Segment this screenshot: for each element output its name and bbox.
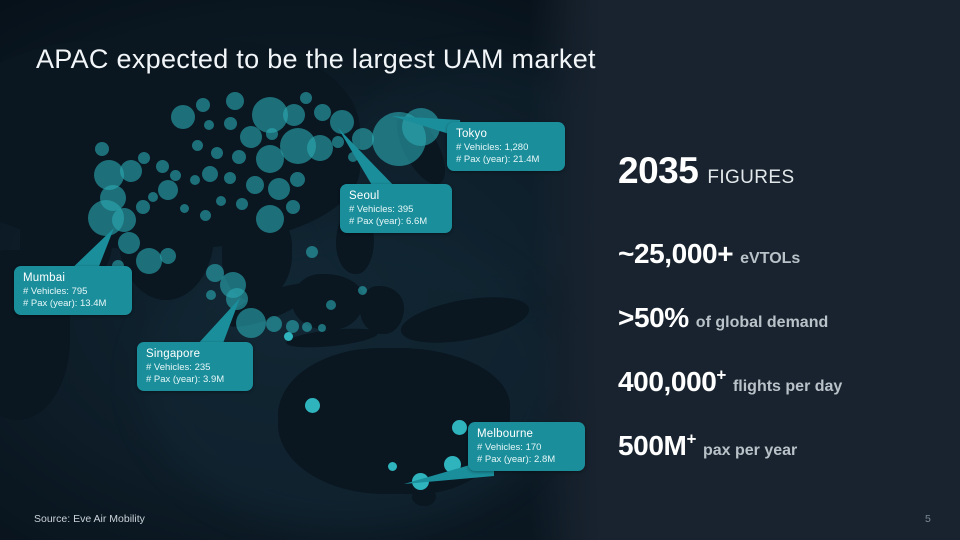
callout-city: Tokyo [456,127,556,141]
figure-label: pax per year [703,442,797,459]
callout-tail-seoul [336,128,398,192]
demand-bubble [211,147,223,159]
figure-superscript: + [716,366,726,385]
demand-bubble [224,172,236,184]
demand-bubble [246,176,264,194]
demand-bubble [314,104,331,121]
demand-bubble [286,200,300,214]
source-note: Source: Eve Air Mobility [34,513,145,525]
callout-vehicles: # Vehicles: 1,280 [456,142,556,154]
demand-bubble [326,300,336,310]
callout-vehicles: # Vehicles: 795 [23,286,123,298]
demand-bubble [170,170,181,181]
figure-value: 500M+ [618,430,696,461]
demand-bubble [236,198,248,210]
callout-city: Mumbai [23,271,123,285]
demand-bubble [158,180,178,200]
figures-year-label: FIGURES [707,167,794,188]
demand-bubble [118,232,140,254]
demand-bubble [156,160,169,173]
demand-bubble [180,204,189,213]
figure-row-pax: 500M+pax per year [618,430,948,462]
figures-panel: 2035FIGURES ~25,000+eVTOLs >50%of global… [618,150,948,494]
callout-singapore[interactable]: Singapore # Vehicles: 235 # Pax (year): … [137,342,253,391]
callout-melbourne[interactable]: Melbourne # Vehicles: 170 # Pax (year): … [468,422,585,471]
landmass-tasmania [412,488,436,506]
figure-label: flights per day [733,378,842,395]
demand-bubble [305,398,320,413]
demand-bubble [224,117,237,130]
page-number: 5 [925,513,931,525]
demand-bubble [388,462,397,471]
demand-bubble [136,248,162,274]
figures-year: 2035 [618,150,698,191]
figure-number: 500M [618,430,686,461]
demand-bubble [120,160,142,182]
callout-pax: # Pax (year): 13.4M [23,298,123,310]
demand-bubble [300,92,312,104]
callout-vehicles: # Vehicles: 170 [477,442,576,454]
demand-bubble [148,192,158,202]
callout-vehicles: # Vehicles: 235 [146,362,244,374]
callout-pax: # Pax (year): 6.6M [349,216,443,228]
landmass-sulawesi [360,286,404,334]
figure-value: >50% [618,302,689,333]
callout-pax: # Pax (year): 2.8M [477,454,576,466]
demand-bubble [171,105,195,129]
page-title: APAC expected to be the largest UAM mark… [36,44,596,75]
figure-superscript: + [686,430,696,449]
callout-pax: # Pax (year): 21.4M [456,154,556,166]
figure-row-demand: >50%of global demand [618,302,948,334]
map-panel: Tokyo # Vehicles: 1,280 # Pax (year): 21… [0,0,600,540]
demand-bubble [226,92,244,110]
figure-label: of global demand [696,314,828,331]
demand-bubble [138,152,150,164]
demand-bubble [283,104,305,126]
demand-bubble [200,210,211,221]
demand-bubble [160,248,176,264]
callout-pax: # Pax (year): 3.9M [146,374,244,386]
demand-bubble [306,246,318,258]
demand-bubble [318,324,326,332]
demand-bubble [266,316,282,332]
callout-city: Seoul [349,189,443,203]
figures-heading: 2035FIGURES [618,150,948,192]
demand-bubble [190,175,200,185]
figure-row-flights: 400,000+flights per day [618,366,948,398]
demand-bubble [290,172,305,187]
demand-bubble [196,98,210,112]
demand-bubble [232,150,246,164]
callout-mumbai[interactable]: Mumbai # Vehicles: 795 # Pax (year): 13.… [14,266,132,315]
demand-bubble [358,286,367,295]
callout-seoul[interactable]: Seoul # Vehicles: 395 # Pax (year): 6.6M [340,184,452,233]
figure-label: eVTOLs [740,250,800,267]
figure-value: 400,000+ [618,366,726,397]
demand-bubble [216,196,226,206]
demand-bubble [136,200,150,214]
callout-city: Singapore [146,347,244,361]
slide-root: Tokyo # Vehicles: 1,280 # Pax (year): 21… [0,0,960,540]
demand-bubble [192,140,203,151]
demand-bubble [95,142,109,156]
figure-row-evtols: ~25,000+eVTOLs [618,238,948,270]
demand-bubble [266,128,278,140]
demand-bubble [452,420,467,435]
callout-tokyo[interactable]: Tokyo # Vehicles: 1,280 # Pax (year): 21… [447,122,565,171]
figure-value: ~25,000+ [618,238,733,269]
demand-bubble [202,166,218,182]
callout-tail-singapore [196,298,242,346]
demand-bubble [307,135,333,161]
callout-vehicles: # Vehicles: 395 [349,204,443,216]
demand-bubble [268,178,290,200]
callout-city: Melbourne [477,427,576,441]
demand-bubble [204,120,214,130]
demand-bubble [284,332,293,341]
demand-bubble [302,322,312,332]
demand-bubble [256,205,284,233]
demand-bubble [256,145,284,173]
figure-number: 400,000 [618,366,716,397]
demand-bubble [240,126,262,148]
